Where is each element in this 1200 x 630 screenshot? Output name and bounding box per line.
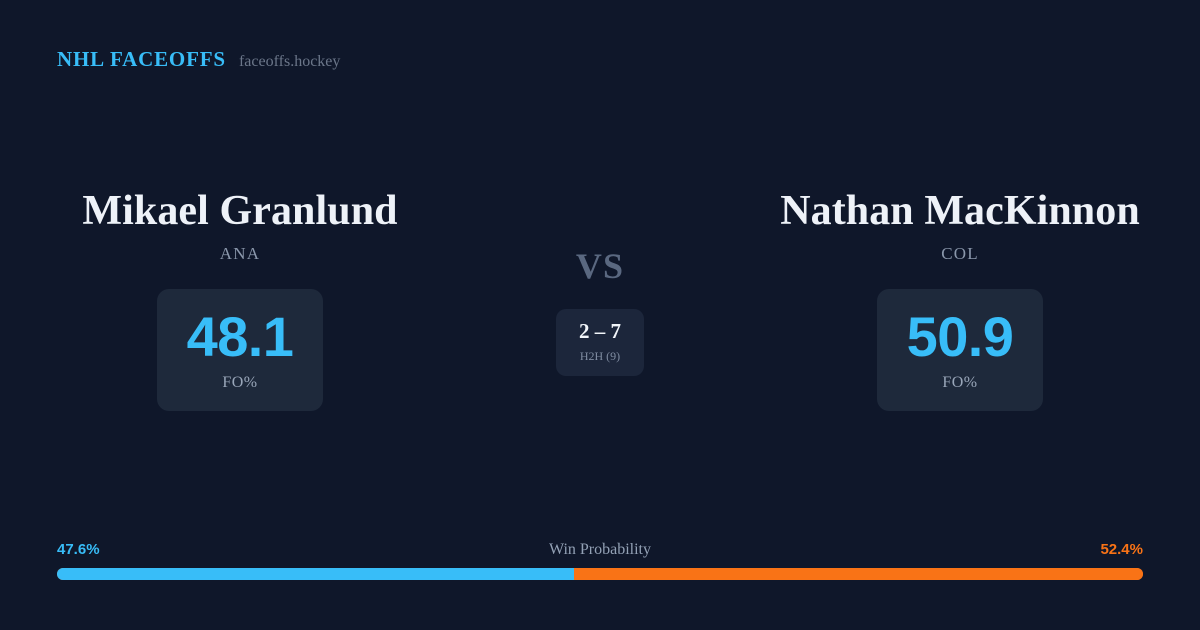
player-right-name: Nathan MacKinnon: [780, 186, 1140, 237]
player-right-stat-card: 50.9 FO%: [877, 289, 1043, 411]
win-probability-bar-left: [57, 568, 574, 580]
win-probability-section: 47.6% Win Probability 52.4%: [57, 541, 1143, 580]
player-left-faceoff-value: 48.1: [187, 309, 294, 365]
head-to-head-score: 2 – 7: [579, 321, 621, 342]
win-probability-labels: 47.6% Win Probability 52.4%: [57, 541, 1143, 559]
vs-label: VS: [576, 248, 624, 284]
win-probability-bar-right: [574, 568, 1143, 580]
win-probability-title: Win Probability: [549, 541, 651, 559]
matchup-center: VS 2 – 7 H2H (9): [480, 186, 720, 376]
player-right-team: COL: [941, 244, 979, 264]
head-to-head-card: 2 – 7 H2H (9): [556, 309, 644, 376]
player-right: Nathan MacKinnon COL 50.9 FO%: [720, 186, 1200, 411]
player-left: Mikael Granlund ANA 48.1 FO%: [0, 186, 480, 411]
player-left-name: Mikael Granlund: [82, 186, 397, 237]
player-left-team: ANA: [220, 244, 260, 264]
brand-domain: faceoffs.hockey: [239, 53, 340, 71]
player-right-faceoff-value: 50.9: [907, 309, 1014, 365]
win-probability-left-percent: 47.6%: [57, 541, 100, 558]
matchup-section: Mikael Granlund ANA 48.1 FO% VS 2 – 7 H2…: [0, 186, 1200, 411]
site-header: NHL FACEOFFS faceoffs.hockey: [57, 47, 340, 72]
player-left-faceoff-label: FO%: [222, 374, 257, 392]
player-right-faceoff-label: FO%: [942, 374, 977, 392]
brand-title: NHL FACEOFFS: [57, 47, 226, 72]
win-probability-right-percent: 52.4%: [1100, 541, 1143, 558]
win-probability-bar: [57, 568, 1143, 580]
player-left-stat-card: 48.1 FO%: [157, 289, 323, 411]
head-to-head-label: H2H (9): [580, 349, 620, 364]
